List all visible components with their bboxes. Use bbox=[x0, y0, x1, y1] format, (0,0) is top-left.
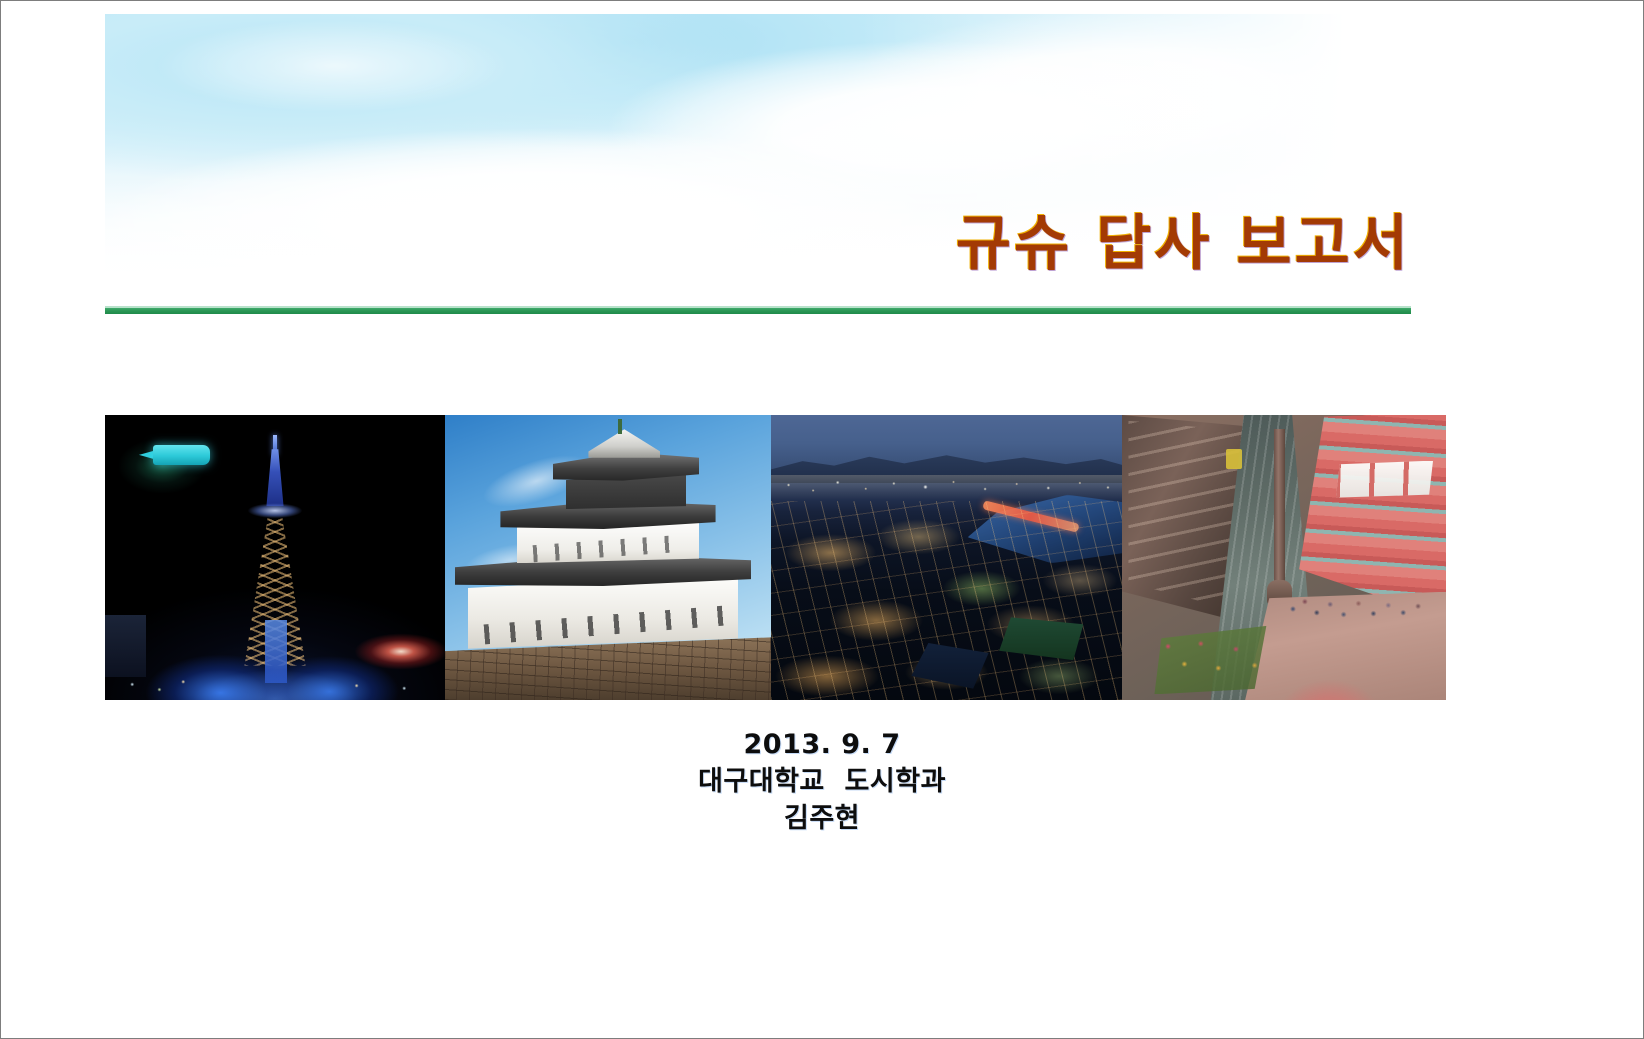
footer-text-block: 2013. 9. 7 대구대학교 도시학과 김주현 bbox=[1, 727, 1643, 838]
lamp-post bbox=[1274, 429, 1285, 594]
yellow-sign bbox=[1226, 449, 1242, 469]
author-name: 김주현 bbox=[1, 801, 1643, 838]
photo-kokura-castle bbox=[445, 415, 771, 700]
accent-divider bbox=[105, 306, 1411, 315]
photo-fukuoka-tower-night bbox=[105, 415, 445, 700]
presentation-date: 2013. 9. 7 bbox=[1, 727, 1643, 764]
cyan-light-bar bbox=[153, 445, 211, 465]
accent-divider-bar bbox=[105, 308, 1411, 314]
right-building-mullions bbox=[1336, 461, 1433, 498]
green-glow bbox=[119, 432, 228, 500]
presentation-slide: 규슈 답사 보고서 bbox=[0, 0, 1644, 1039]
crowd-of-visitors bbox=[1284, 586, 1433, 632]
street-lights bbox=[105, 674, 445, 700]
photo-canal-city-hakata bbox=[1122, 415, 1446, 700]
page-title: 규슈 답사 보고서 bbox=[956, 213, 1411, 276]
photo-strip bbox=[105, 415, 1446, 700]
castle-finial bbox=[618, 419, 622, 433]
title-container: 규슈 답사 보고서 bbox=[105, 213, 1411, 276]
photo-city-night-aerial bbox=[771, 415, 1122, 700]
affiliation-text: 대구대학교 도시학과 bbox=[1, 764, 1643, 801]
